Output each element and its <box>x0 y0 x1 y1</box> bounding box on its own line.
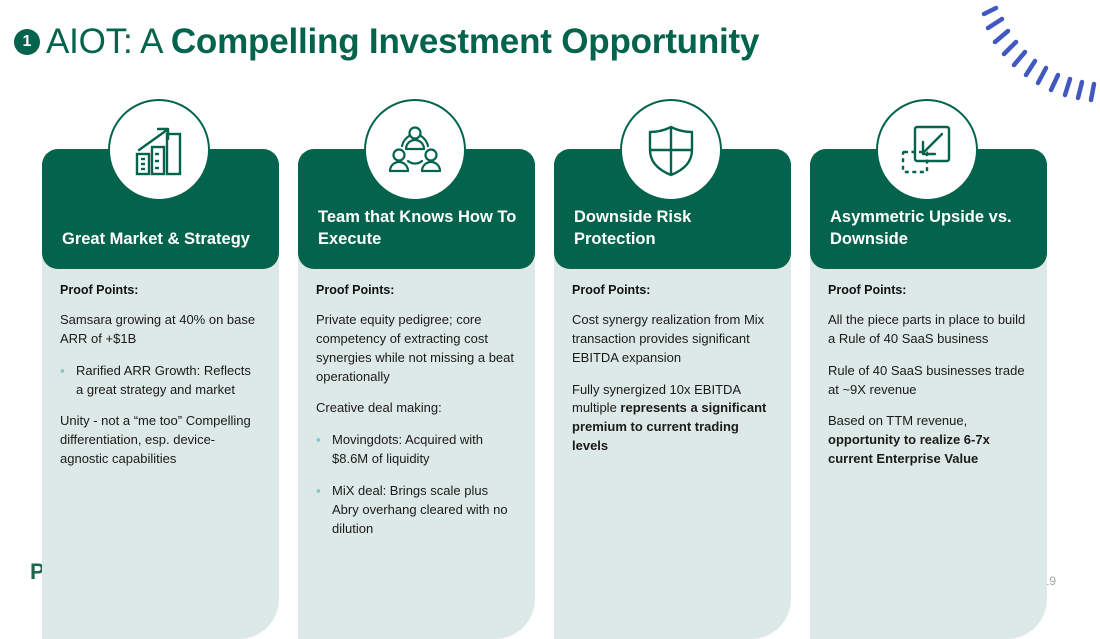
slide-title: 1 AIOT: A Compelling Investment Opportun… <box>14 18 759 66</box>
proof-text-normal: Based on TTM revenue, <box>828 413 967 428</box>
pillar-card-body: Proof Points: All the piece parts in pla… <box>810 257 1047 639</box>
list-item-label: Rarified ARR Growth: Reflects a great st… <box>76 362 261 400</box>
page-title-light: AIOT: A <box>46 22 171 61</box>
list-item-label: Movingdots: Acquired with $8.6M of liqui… <box>332 431 517 469</box>
proof-paragraph-mixed: Fully synergized 10x EBITDA multiple rep… <box>572 381 773 456</box>
proof-paragraph: All the piece parts in place to build a … <box>828 311 1029 349</box>
pillar-card-title: Great Market & Strategy <box>62 229 262 251</box>
team-network-icon <box>364 99 466 201</box>
slide-number-badge: 1 <box>14 29 40 55</box>
bullet-icon: ▪ <box>316 482 332 539</box>
pillar-card-title: Asymmetric Upside vs. Downside <box>830 207 1030 251</box>
proof-paragraph: Cost synergy realization from Mix transa… <box>572 311 773 368</box>
list-item: ▪ MiX deal: Brings scale plus Abry overh… <box>316 482 517 539</box>
proof-paragraph-mixed: Based on TTM revenue, opportunity to rea… <box>828 412 1029 469</box>
shield-protection-icon <box>620 99 722 201</box>
downside-arrow-square-icon <box>876 99 978 201</box>
proof-text-bold: opportunity to realize 6-7x current Ente… <box>828 432 990 466</box>
proof-paragraph: Private equity pedigree; core competency… <box>316 311 517 386</box>
bar-chart-growth-icon <box>108 99 210 201</box>
proof-paragraph: Rule of 40 SaaS businesses trade at ~9X … <box>828 362 1029 400</box>
proof-points-label: Proof Points: <box>316 283 517 297</box>
proof-points-label: Proof Points: <box>828 283 1029 297</box>
proof-points-label: Proof Points: <box>572 283 773 297</box>
decorative-dash-arc <box>970 0 1100 115</box>
bullet-icon: ▪ <box>60 362 76 400</box>
bullet-icon: ▪ <box>316 431 332 469</box>
page-title: AIOT: A Compelling Investment Opportunit… <box>46 22 759 62</box>
page-title-bold: Compelling Investment Opportunity <box>171 22 759 61</box>
list-item: ▪ Rarified ARR Growth: Reflects a great … <box>60 362 261 400</box>
list-item: ▪ Movingdots: Acquired with $8.6M of liq… <box>316 431 517 469</box>
proof-paragraph: Creative deal making: <box>316 399 517 418</box>
pillar-card-body: Proof Points: Private equity pedigree; c… <box>298 257 535 639</box>
proof-paragraph: Unity - not a “me too” Compelling differ… <box>60 412 261 469</box>
pillar-card-body: Proof Points: Samsara growing at 40% on … <box>42 257 279 639</box>
proof-paragraph: Samsara growing at 40% on base ARR of +$… <box>60 311 261 349</box>
pillar-card-body: Proof Points: Cost synergy realization f… <box>554 257 791 639</box>
proof-points-label: Proof Points: <box>60 283 261 297</box>
pillar-card-title: Downside Risk Protection <box>574 207 774 251</box>
pillar-card-title: Team that Knows How To Execute <box>318 207 518 251</box>
list-item-label: MiX deal: Brings scale plus Abry overhan… <box>332 482 517 539</box>
